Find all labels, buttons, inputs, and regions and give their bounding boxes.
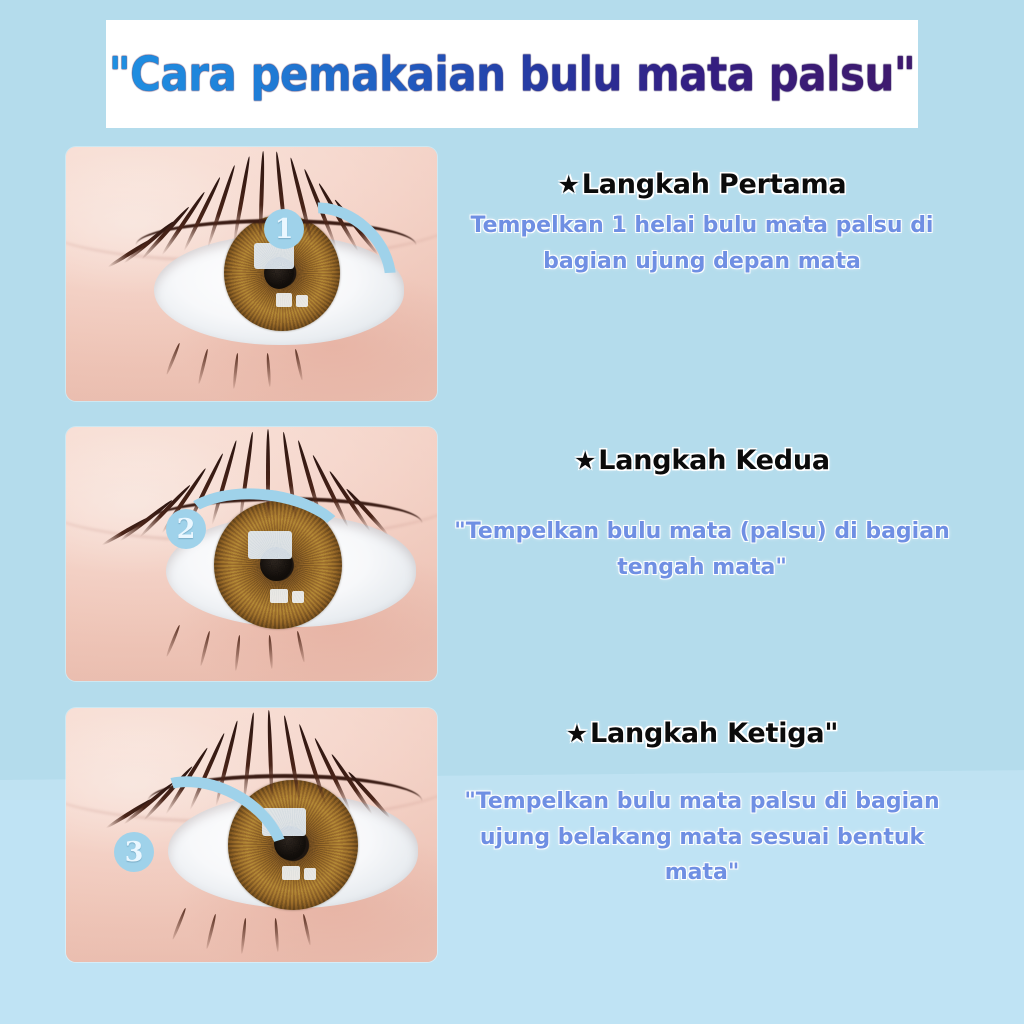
step-marker-badge: 2 (166, 509, 206, 549)
step-photo-card: 3 (66, 708, 437, 962)
step-heading-label: Langkah Ketiga" (590, 718, 838, 749)
step-photo-card: 1 (66, 147, 437, 401)
step-marker-badge: 1 (264, 209, 304, 249)
step-row: 2 ★Langkah Kedua "Tempelkan bulu mata (p… (0, 427, 1024, 681)
step-marker-number: 1 (275, 216, 294, 243)
step-text-block: ★Langkah Kedua "Tempelkan bulu mata (pal… (452, 445, 952, 585)
step-heading-label: Langkah Kedua (598, 445, 830, 476)
eye-photo: 3 (66, 708, 437, 962)
step-heading-label: Langkah Pertama (582, 169, 847, 200)
star-icon: ★ (566, 719, 588, 748)
step-marker-number: 2 (177, 516, 196, 543)
star-icon: ★ (558, 170, 580, 199)
eye-photo: 2 (66, 427, 437, 681)
step-marker-number: 3 (125, 839, 144, 866)
catchlight-small (304, 868, 316, 880)
step-body: "Tempelkan bulu mata (palsu) di bagian t… (452, 514, 952, 585)
star-icon: ★ (574, 446, 596, 475)
step-body: "Tempelkan bulu mata palsu di bagian uju… (452, 784, 952, 891)
step-heading: ★Langkah Pertama (452, 169, 952, 200)
step-text-block: ★Langkah Pertama Tempelkan 1 helai bulu … (452, 169, 952, 279)
step-text-block: ★Langkah Ketiga" "Tempelkan bulu mata pa… (452, 718, 952, 891)
catchlight-small (292, 591, 304, 603)
step-photo-card: 2 (66, 427, 437, 681)
title-banner: "Cara pemakaian bulu mata palsu" (106, 20, 918, 128)
poster-root: "Cara pemakaian bulu mata palsu" (0, 0, 1024, 1024)
step-body: Tempelkan 1 helai bulu mata palsu di bag… (452, 208, 952, 279)
step-row: 3 ★Langkah Ketiga" "Tempelkan bulu mata … (0, 708, 1024, 962)
eye-photo: 1 (66, 147, 437, 401)
step-marker-badge: 3 (114, 832, 154, 872)
page-title: "Cara pemakaian bulu mata palsu" (109, 47, 916, 102)
step-row: 1 ★Langkah Pertama Tempelkan 1 helai bul… (0, 147, 1024, 401)
step-heading: ★Langkah Kedua (452, 445, 952, 476)
step-heading: ★Langkah Ketiga" (452, 718, 952, 749)
